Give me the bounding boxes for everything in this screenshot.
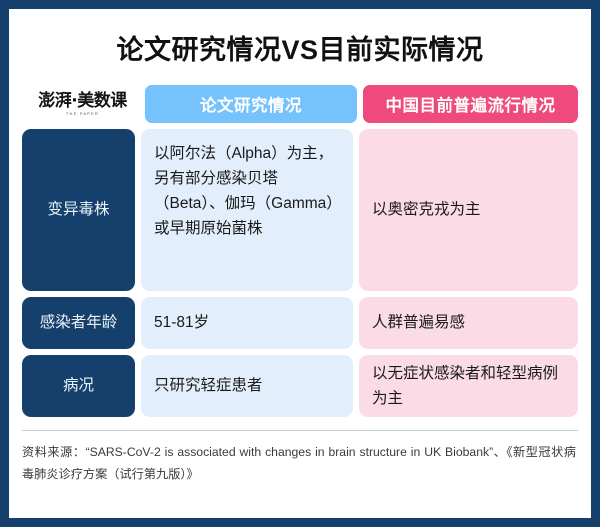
cell-study-variant: 以阿尔法（Alpha）为主，另有部分感染贝塔（Beta）、伽玛（Gamma）或早…: [141, 129, 353, 291]
row-label-age: 感染者年龄: [22, 297, 135, 349]
page-title: 论文研究情况VS目前实际情况: [116, 28, 483, 67]
title-container: 论文研究情况VS目前实际情况: [22, 9, 578, 85]
poster-inner: 论文研究情况VS目前实际情况 澎湃·美数课 THE PAPER 论文研究情况 中…: [9, 9, 591, 518]
row-label-variant: 变异毒株: [22, 129, 135, 291]
table-row: 变异毒株 以阿尔法（Alpha）为主，另有部分感染贝塔（Beta）、伽玛（Gam…: [22, 129, 578, 291]
infographic-poster: 论文研究情况VS目前实际情况 澎湃·美数课 THE PAPER 论文研究情况 中…: [0, 0, 600, 527]
logo-stack: 澎湃·美数课 THE PAPER: [38, 93, 126, 116]
brand-logo: 澎湃·美数课 THE PAPER: [22, 85, 139, 123]
cell-china-condition: 以无症状感染者和轻型病例为主: [359, 355, 578, 417]
cell-study-condition: 只研究轻症患者: [141, 355, 353, 417]
logo-subtext: THE PAPER: [66, 112, 99, 116]
column-header-china: 中国目前普遍流行情况: [363, 85, 578, 123]
column-header-study: 论文研究情况: [145, 85, 357, 123]
table-row: 感染者年龄 51-81岁 人群普遍易感: [22, 297, 578, 349]
source-note: 资料来源：“SARS-CoV-2 is associated with chan…: [22, 442, 578, 485]
cell-china-variant: 以奥密克戎为主: [359, 129, 578, 291]
cell-china-age: 人群普遍易感: [359, 297, 578, 349]
table-header-row: 澎湃·美数课 THE PAPER 论文研究情况 中国目前普遍流行情况: [22, 85, 578, 123]
cell-study-age: 51-81岁: [141, 297, 353, 349]
table-row: 病况 只研究轻症患者 以无症状感染者和轻型病例为主: [22, 355, 578, 417]
row-label-condition: 病况: [22, 355, 135, 417]
logo-text: 澎湃·美数课: [38, 93, 126, 110]
comparison-table: 澎湃·美数课 THE PAPER 论文研究情况 中国目前普遍流行情况 变异毒株 …: [22, 85, 578, 417]
footer-divider: [22, 430, 578, 431]
